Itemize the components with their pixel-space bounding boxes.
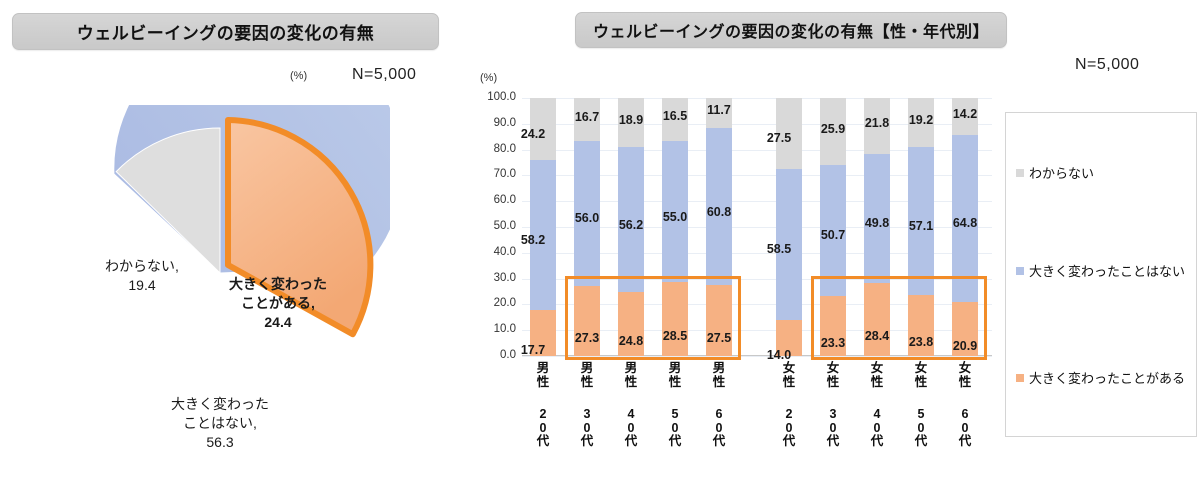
bar-value-not-changed: 55.0 bbox=[653, 210, 697, 224]
bar-value-unknown: 27.5 bbox=[757, 131, 801, 145]
legend-label: 大きく変わったことがある bbox=[1029, 368, 1185, 387]
highlight-box bbox=[811, 276, 987, 360]
x-axis-gender-label: 女性 bbox=[820, 362, 846, 389]
y-axis-tick: 30.0 bbox=[466, 272, 516, 284]
bar-value-unknown: 24.2 bbox=[511, 127, 555, 141]
left-unit-label: (%) bbox=[290, 70, 307, 82]
x-axis-gender-label: 女性 bbox=[864, 362, 890, 389]
pie-label-not-changed-name: 大きく変わった bbox=[140, 395, 300, 414]
pie-label-unknown-value: 19.4 bbox=[82, 276, 202, 295]
y-axis-tick: 100.0 bbox=[466, 91, 516, 103]
legend-item[interactable]: わからない bbox=[1016, 163, 1094, 182]
left-sample-size-label: N=5,000 bbox=[352, 66, 416, 84]
bar-chart-panel: ウェルビーイングの要因の変化の有無【性・年代別】 N=5,000 (%) 0.0… bbox=[460, 0, 1200, 480]
x-axis-gender-label: 男性 bbox=[574, 362, 600, 389]
y-axis-tick: 80.0 bbox=[466, 143, 516, 155]
legend-swatch-icon bbox=[1016, 169, 1024, 177]
bar-value-unknown: 25.9 bbox=[811, 122, 855, 136]
x-axis-gender-label: 男性 bbox=[706, 362, 732, 389]
bar-value-not-changed: 64.8 bbox=[943, 216, 987, 230]
legend-swatch-icon bbox=[1016, 267, 1024, 275]
legend-label: 大きく変わったことはない bbox=[1029, 261, 1185, 280]
bar-value-not-changed: 50.7 bbox=[811, 228, 855, 242]
bar-value-not-changed: 56.0 bbox=[565, 211, 609, 225]
legend: わからない大きく変わったことはない大きく変わったことがある bbox=[1005, 112, 1197, 437]
pie-label-unknown-name: わからない, bbox=[82, 257, 202, 276]
pie-chart: わからない, 19.4 大きく変わった ことがある, 24.4 大きく変わった … bbox=[60, 105, 390, 435]
x-axis-gender-label: 男性 bbox=[530, 362, 556, 389]
left-chart-title: ウェルビーイングの要因の変化の有無 bbox=[12, 13, 439, 50]
y-axis-tick: 90.0 bbox=[466, 117, 516, 129]
bar-value-unknown: 19.2 bbox=[899, 113, 943, 127]
bar-value-unknown: 11.7 bbox=[697, 103, 741, 117]
y-axis-tick: 40.0 bbox=[466, 246, 516, 258]
bar-value-unknown: 14.2 bbox=[943, 107, 987, 121]
legend-swatch-icon bbox=[1016, 374, 1024, 382]
x-axis-age-label: 20代 bbox=[530, 408, 556, 449]
x-axis-age-label: 30代 bbox=[820, 408, 846, 449]
pie-label-unknown: わからない, 19.4 bbox=[82, 257, 202, 295]
pie-label-not-changed-name2: ことはない, bbox=[140, 414, 300, 433]
pie-chart-panel: ウェルビーイングの要因の変化の有無 (%) N=5,000 bbox=[0, 0, 460, 480]
y-axis-tick: 70.0 bbox=[466, 168, 516, 180]
y-axis-tick: 60.0 bbox=[466, 194, 516, 206]
bar-value-not-changed: 60.8 bbox=[697, 205, 741, 219]
pie-label-not-changed-value: 56.3 bbox=[140, 433, 300, 452]
x-axis-age-label: 50代 bbox=[662, 408, 688, 449]
x-axis-gender-label: 女性 bbox=[908, 362, 934, 389]
bar-value-not-changed: 57.1 bbox=[899, 219, 943, 233]
bar-value-not-changed: 56.2 bbox=[609, 218, 653, 232]
bar-value-changed: 14.0 bbox=[757, 348, 801, 362]
bar-value-not-changed: 49.8 bbox=[855, 216, 899, 230]
bar-value-not-changed: 58.2 bbox=[511, 233, 555, 247]
bar-value-unknown: 21.8 bbox=[855, 116, 899, 130]
x-axis-age-label: 30代 bbox=[574, 408, 600, 449]
legend-label: わからない bbox=[1029, 163, 1094, 182]
pie-label-changed-value: 24.4 bbox=[208, 313, 348, 332]
bar-value-not-changed: 58.5 bbox=[757, 242, 801, 256]
x-axis-age-label: 40代 bbox=[618, 408, 644, 449]
x-axis-gender-label: 男性 bbox=[618, 362, 644, 389]
legend-item[interactable]: 大きく変わったことがある bbox=[1016, 368, 1185, 387]
bar-value-changed: 17.7 bbox=[511, 343, 555, 357]
x-axis-gender-label: 男性 bbox=[662, 362, 688, 389]
bar-value-unknown: 16.5 bbox=[653, 109, 697, 123]
y-axis-tick: 0.0 bbox=[466, 349, 516, 361]
x-axis-age-label: 60代 bbox=[952, 408, 978, 449]
y-axis-tick: 50.0 bbox=[466, 220, 516, 232]
pie-label-changed-name: 大きく変わった bbox=[208, 275, 348, 294]
x-axis-age-label: 20代 bbox=[776, 408, 802, 449]
pie-label-changed: 大きく変わった ことがある, 24.4 bbox=[208, 275, 348, 332]
highlight-box bbox=[565, 276, 741, 360]
pie-label-changed-name2: ことがある, bbox=[208, 294, 348, 313]
pie-label-not-changed: 大きく変わった ことはない, 56.3 bbox=[140, 395, 300, 452]
y-axis-tick: 10.0 bbox=[466, 323, 516, 335]
y-axis-tick: 20.0 bbox=[466, 297, 516, 309]
bar-value-unknown: 16.7 bbox=[565, 110, 609, 124]
x-axis-age-label: 40代 bbox=[864, 408, 890, 449]
x-axis-gender-label: 女性 bbox=[776, 362, 802, 389]
legend-item[interactable]: 大きく変わったことはない bbox=[1016, 261, 1185, 280]
x-axis-age-label: 60代 bbox=[706, 408, 732, 449]
bar-value-unknown: 18.9 bbox=[609, 113, 653, 127]
x-axis-gender-label: 女性 bbox=[952, 362, 978, 389]
x-axis-age-label: 50代 bbox=[908, 408, 934, 449]
